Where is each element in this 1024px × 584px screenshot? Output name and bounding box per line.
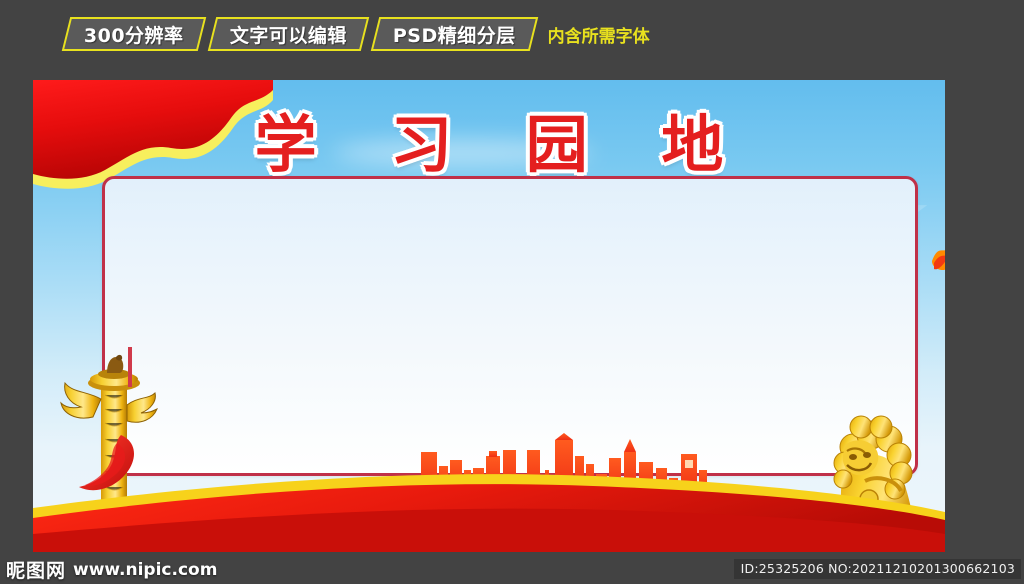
bottom-red-wave	[33, 442, 945, 552]
top-badge-bar: 300分辨率 文字可以编辑 PSD精细分层 内含所需字体	[0, 0, 1024, 68]
badge-note-fonts-included: 内含所需字体	[548, 22, 650, 47]
page-title: 学 习 园 地	[33, 94, 945, 184]
poster-canvas: 学 习 园 地	[33, 80, 945, 552]
content-frame[interactable]	[102, 176, 918, 476]
badge-psd-layers-label: PSD精细分层	[393, 21, 516, 48]
badge-editable-text: 文字可以编辑	[207, 17, 368, 51]
nipic-logo: 昵图网	[6, 556, 66, 583]
flying-birds-icon	[928, 235, 945, 295]
badge-resolution: 300分辨率	[62, 17, 206, 51]
screenshot-stage: 300分辨率 文字可以编辑 PSD精细分层 内含所需字体	[0, 0, 1024, 584]
nipic-url: www.nipic.com	[73, 560, 217, 580]
image-id-watermark: ID:25325206 NO:20211210201300662103	[734, 559, 1021, 579]
badge-psd-layers: PSD精细分层	[370, 17, 537, 51]
watermark-branding: 昵图网 www.nipic.com	[6, 556, 217, 583]
badge-editable-text-label: 文字可以编辑	[230, 21, 347, 48]
badge-resolution-label: 300分辨率	[84, 21, 184, 48]
